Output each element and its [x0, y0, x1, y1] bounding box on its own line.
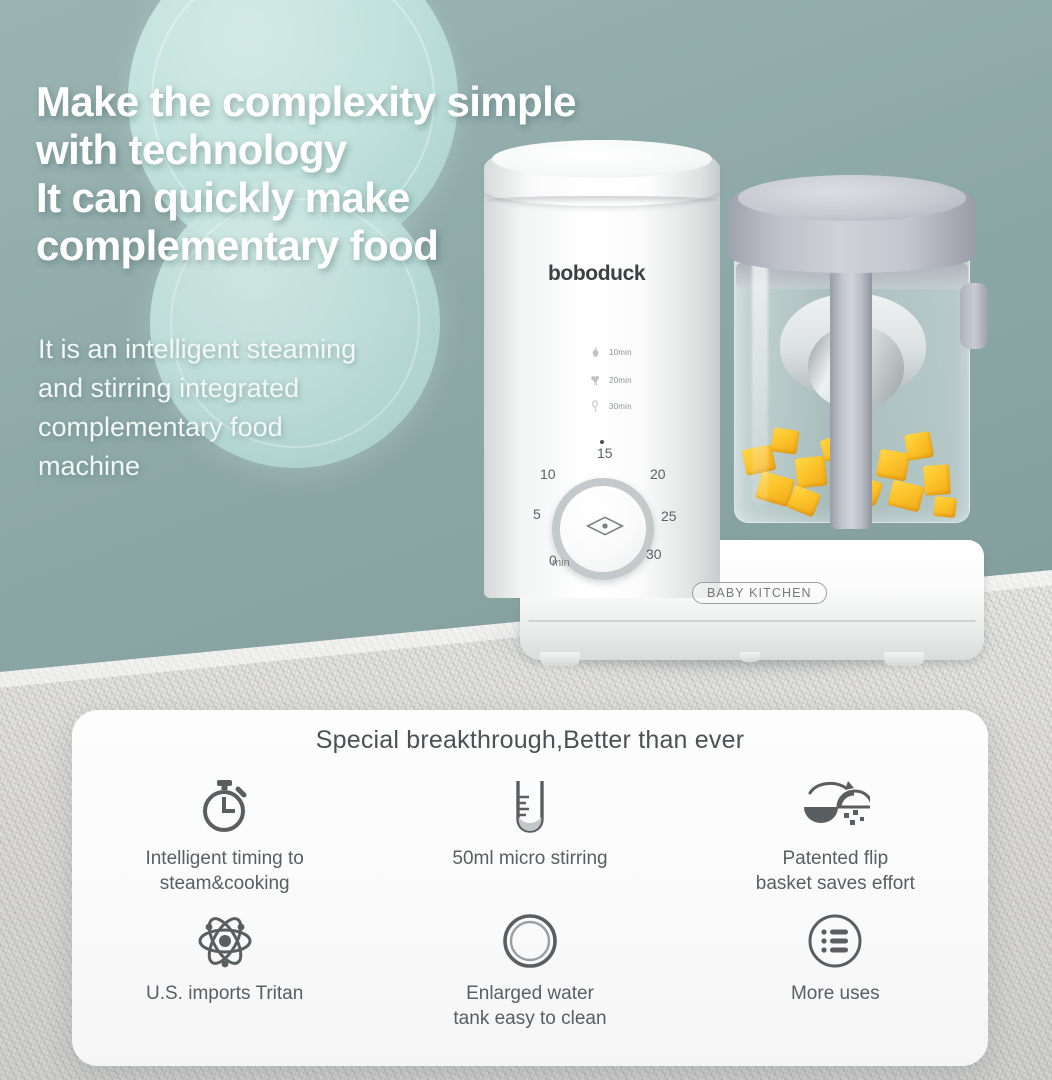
blending-jar [722, 165, 988, 565]
beaker-icon [508, 775, 552, 837]
lid-seam [486, 196, 718, 204]
apple-icon [589, 346, 602, 359]
feature-micro-stirring: 50ml micro stirring [377, 775, 682, 896]
water-tank-icon [501, 910, 559, 972]
feature-more-uses: More uses [683, 910, 988, 1031]
steam-guide-row-broccoli: 20min [589, 374, 632, 387]
dial-tick-10: 10 [540, 466, 556, 482]
broccoli-icon [589, 374, 602, 387]
base-foot-right [884, 652, 924, 666]
jar-side-latch [960, 283, 988, 349]
feature-label: Enlarged watertank easy to clean [453, 982, 606, 1031]
feature-flip-basket: Patented flipbasket saves effort [683, 775, 988, 896]
dial-tick-5: 5 [533, 506, 541, 522]
atom-icon [196, 910, 254, 972]
steam-guide-row-spoon: 30min [589, 400, 632, 413]
feature-tritan: U.S. imports Tritan [72, 910, 377, 1031]
flip-basket-icon [800, 775, 870, 837]
base-foot-center [740, 652, 760, 662]
feature-label: Patented flipbasket saves effort [756, 847, 915, 896]
steam-guide-time-2: 20min [609, 376, 632, 385]
feature-card-title: Special breakthrough,Better than ever [72, 726, 988, 755]
dial-pointer-icon [585, 513, 625, 539]
feature-label: U.S. imports Tritan [146, 982, 303, 1007]
jar-lid-top-surface [738, 175, 966, 221]
steam-guide-time-1: 10min [609, 348, 632, 357]
feature-card: Special breakthrough,Better than ever In… [72, 710, 988, 1066]
stopwatch-icon [197, 775, 253, 837]
brand-logo: boboduck [548, 262, 645, 286]
feature-label: 50ml micro stirring [452, 847, 607, 872]
feature-intelligent-timing: Intelligent timing tosteam&cooking [72, 775, 377, 896]
feature-label: More uses [791, 982, 880, 1007]
water-tank-lid-top [492, 140, 712, 178]
list-circle-icon [806, 910, 864, 972]
steam-guide-time-3: 30min [609, 402, 632, 411]
dial-tick-30: 30 [646, 546, 662, 562]
dial-tick-15: 15 [597, 445, 613, 461]
product-marketing-image: Make the complexity simple with technolo… [0, 0, 1052, 1080]
steam-guide-row-apple: 10min [589, 346, 632, 359]
dial-tick-20: 20 [650, 466, 666, 482]
feature-water-tank: Enlarged watertank easy to clean [377, 910, 682, 1031]
feature-grid: Intelligent timing tosteam&cooking 50ml … [72, 775, 988, 1032]
feature-label: Intelligent timing tosteam&cooking [145, 847, 303, 896]
base-foot-left [540, 652, 580, 666]
jar-highlight [752, 235, 768, 505]
base-seam-line [528, 620, 976, 622]
product-illustration: boboduck 10min 20min 30min [0, 0, 1052, 700]
dial-index-mark [600, 440, 604, 444]
dial-unit-label: min [552, 557, 570, 569]
status-badge: BABY KITCHEN [692, 582, 827, 604]
spoon-icon [589, 400, 602, 413]
dial-tick-25: 25 [661, 508, 677, 524]
